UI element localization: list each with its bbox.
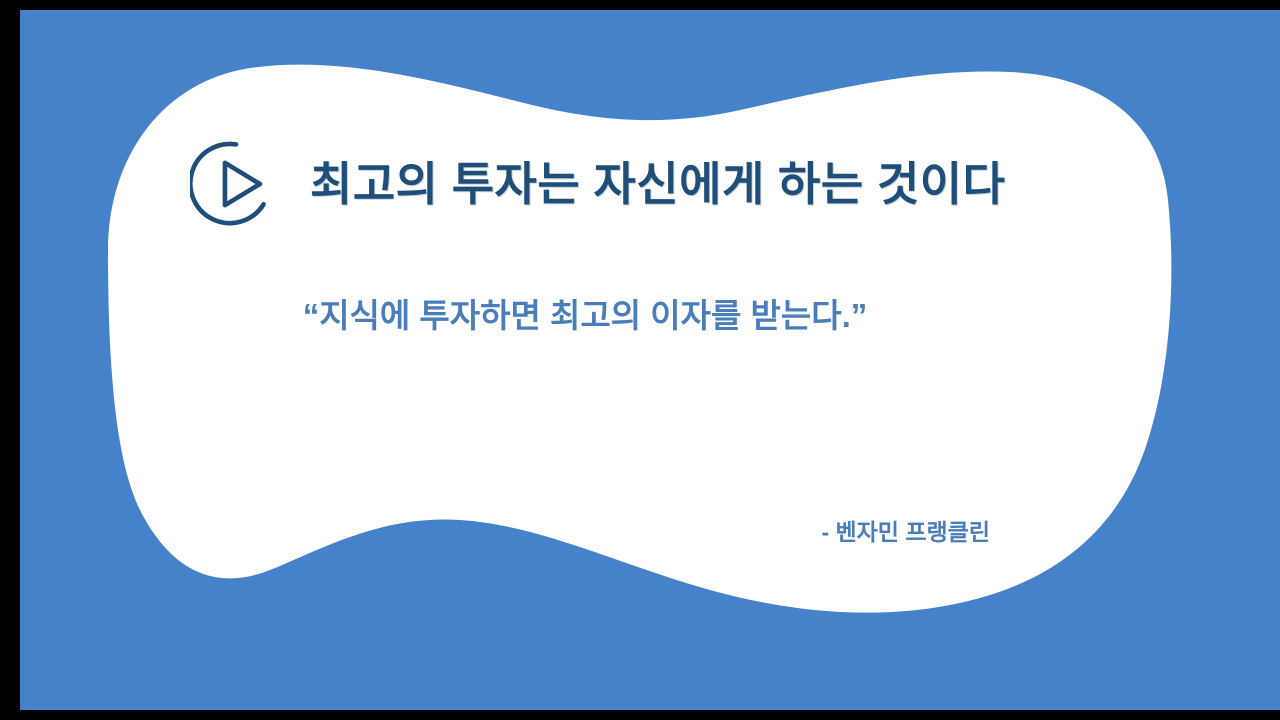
quote-attribution: - 벤자민 프랭클린 [20, 513, 1235, 547]
presentation-slide: 최고의 투자는 자신에게 하는 것이다 “지식에 투자하면 최고의 이자를 받는… [20, 10, 1280, 710]
quote-text: “지식에 투자하면 최고의 이자를 받는다.” [20, 296, 1150, 336]
slide-content: 최고의 투자는 자신에게 하는 것이다 “지식에 투자하면 최고의 이자를 받는… [20, 10, 1280, 710]
video-letterbox-frame: 최고의 투자는 자신에게 하는 것이다 “지식에 투자하면 최고의 이자를 받는… [0, 0, 1280, 720]
page-title: 최고의 투자는 자신에게 하는 것이다 [310, 159, 1005, 210]
title-row: 최고의 투자는 자신에게 하는 것이다 [190, 138, 1005, 230]
play-circle-icon [190, 138, 282, 230]
